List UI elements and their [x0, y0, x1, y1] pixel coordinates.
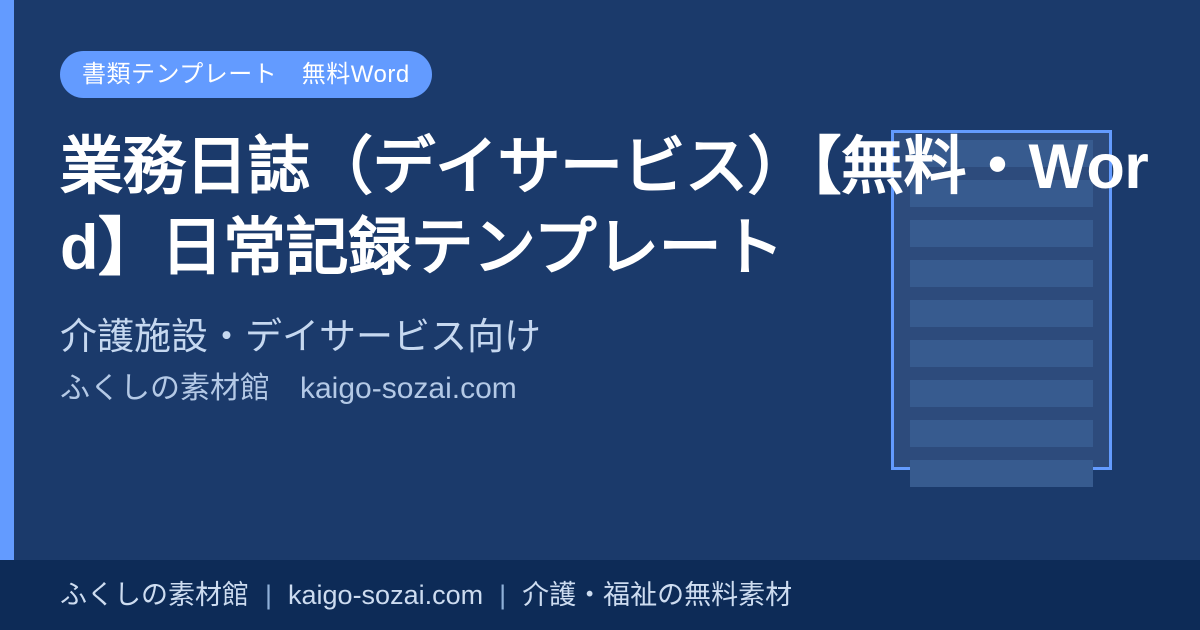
footer-bar: ふくしの素材館 | kaigo-sozai.com | 介護・福祉の無料素材 — [0, 560, 1200, 630]
footer-tagline: 介護・福祉の無料素材 — [522, 582, 792, 609]
page-title: 業務日誌（デイサービス）【無料・Word】日常記録テンプレート — [60, 127, 1180, 288]
footer-domain: kaigo-sozai.com — [288, 582, 483, 609]
footer-site-name: ふくしの素材館 — [60, 582, 249, 609]
left-accent-bar — [0, 0, 14, 560]
card-content: 書類テンプレート 無料Word 業務日誌（デイサービス）【無料・Word】日常記… — [60, 0, 1190, 560]
footer-separator: | — [483, 582, 522, 609]
category-badge-label: 書類テンプレート 無料Word — [82, 63, 410, 87]
subtitle: 介護施設・デイサービス向け — [60, 314, 541, 360]
site-credit-line: ふくしの素材館 kaigo-sozai.com — [60, 370, 517, 408]
footer-text: ふくしの素材館 | kaigo-sozai.com | 介護・福祉の無料素材 — [60, 560, 792, 630]
footer-separator: | — [249, 582, 288, 609]
category-badge: 書類テンプレート 無料Word — [60, 51, 432, 98]
og-image-card: 書類テンプレート 無料Word 業務日誌（デイサービス）【無料・Word】日常記… — [0, 0, 1200, 630]
